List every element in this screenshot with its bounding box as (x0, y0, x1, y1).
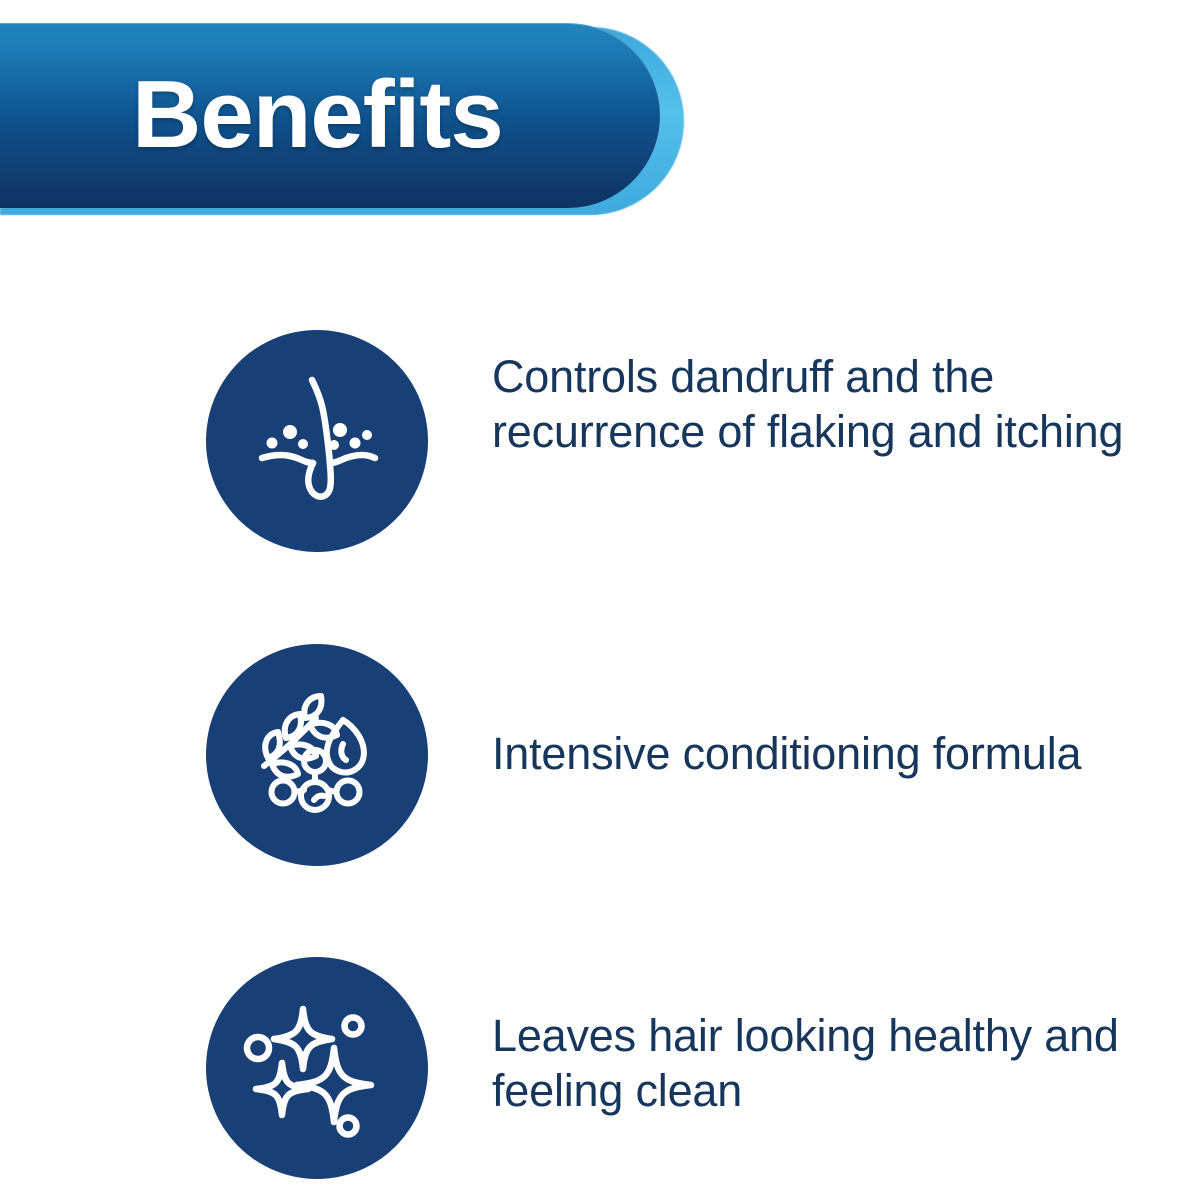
benefits-panel: Benefits (0, 0, 1200, 1200)
benefit-label: Leaves hair looking healthy and feeling … (492, 1009, 1200, 1119)
sparkles-shine-icon (206, 957, 428, 1179)
header-banner: Benefits (0, 23, 692, 211)
hair-follicle-dandruff-icon (206, 330, 428, 552)
benefit-item: Controls dandruff and the recurrence of … (0, 330, 1200, 552)
benefit-item: Leaves hair looking healthy and feeling … (0, 957, 1200, 1179)
benefit-label: Intensive conditioning formula (492, 727, 1200, 782)
benefit-label: Controls dandruff and the recurrence of … (492, 350, 1200, 460)
leaves-droplet-molecule-icon (206, 644, 428, 866)
benefit-item: Intensive conditioning formula (0, 644, 1200, 866)
page-title: Benefits (132, 67, 503, 163)
